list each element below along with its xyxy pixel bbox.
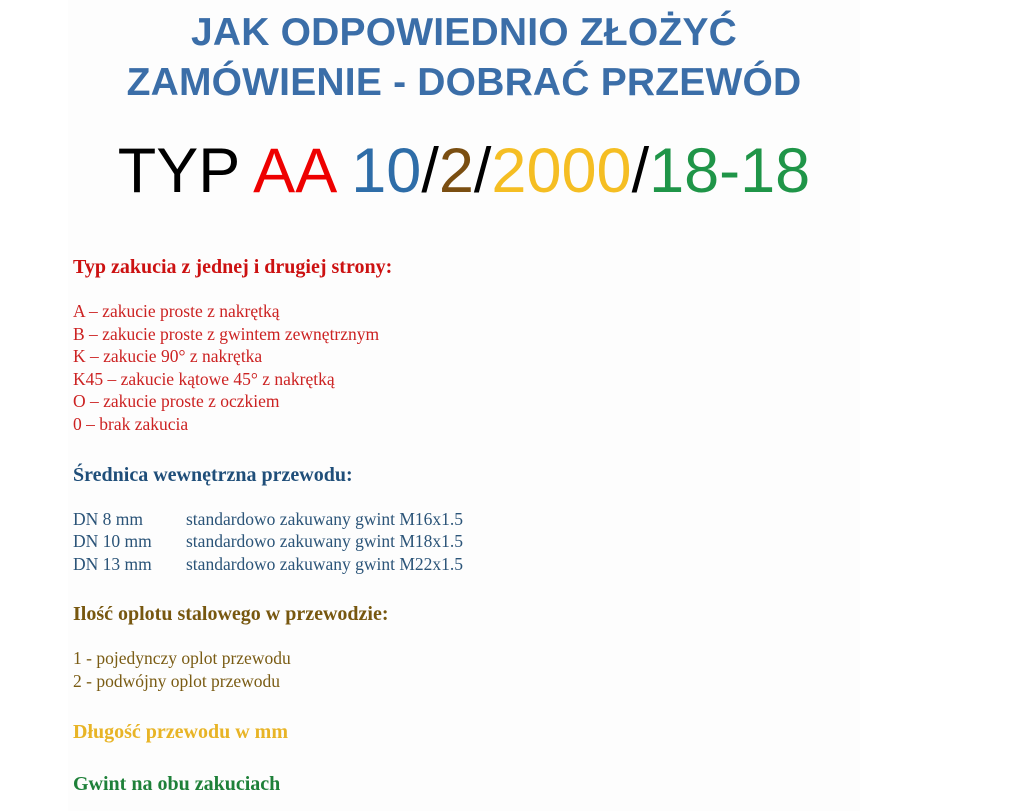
section-fitting-type-body: A – zakucie proste z nakrętką B – zakuci… [73, 300, 873, 436]
section-hose-length: Długość przewodu w mm [73, 719, 873, 771]
code-separator-3: / [632, 136, 650, 206]
spacer [73, 745, 873, 771]
code-hose-length: 2000 [491, 136, 631, 206]
code-separator-2: / [474, 136, 492, 206]
list-item: 0 – brak zakucia [73, 413, 873, 436]
section-steel-braid-body: 1 - pojedynczy oplot przewodu 2 - podwój… [73, 647, 873, 692]
list-item: A – zakucie proste z nakrętką [73, 300, 873, 323]
section-hose-length-heading: Długość przewodu w mm [73, 719, 873, 745]
page-title-line-1: JAK ODPOWIEDNIO ZŁOŻYĆ [68, 8, 860, 58]
spacer [73, 436, 873, 462]
code-braid-count: 2 [439, 136, 474, 206]
spacer [73, 627, 873, 647]
spacer [73, 488, 873, 508]
code-inner-diameter: 10 [351, 136, 421, 206]
dn-size: DN 13 mm [73, 553, 186, 576]
list-item: O – zakucie proste z oczkiem [73, 390, 873, 413]
section-inner-diameter-body: DN 8 mmstandardowo zakuwany gwint M16x1.… [73, 508, 873, 576]
spacer [73, 575, 873, 601]
table-row: DN 13 mmstandardowo zakuwany gwint M22x1… [73, 553, 873, 576]
list-item: K45 – zakucie kątowe 45° z nakrętką [73, 368, 873, 391]
section-thread-both-ends: Gwint na obu zakuciach [73, 771, 873, 797]
table-row: DN 10 mmstandardowo zakuwany gwint M18x1… [73, 530, 873, 553]
spacer [73, 693, 873, 719]
page-title: JAK ODPOWIEDNIO ZŁOŻYĆ ZAMÓWIENIE - DOBR… [68, 8, 860, 108]
dn-thread: standardowo zakuwany gwint M18x1.5 [186, 531, 463, 551]
list-item: 1 - pojedynczy oplot przewodu [73, 647, 873, 670]
code-space [334, 136, 352, 206]
table-row: DN 8 mmstandardowo zakuwany gwint M16x1.… [73, 508, 873, 531]
list-item: K – zakucie 90° z nakrętka [73, 345, 873, 368]
section-inner-diameter-heading: Średnica wewnętrzna przewodu: [73, 462, 873, 488]
section-fitting-type-heading: Typ zakucia z jednej i drugiej strony: [73, 254, 873, 280]
dn-size: DN 10 mm [73, 530, 186, 553]
slide-canvas: JAK ODPOWIEDNIO ZŁOŻYĆ ZAMÓWIENIE - DOBR… [0, 0, 1012, 811]
dn-size: DN 8 mm [73, 508, 186, 531]
dn-thread: standardowo zakuwany gwint M22x1.5 [186, 554, 463, 574]
product-code-example: TYP AA 10/2/2000/18-18 [68, 136, 860, 206]
list-item: B – zakucie proste z gwintem zewnętrznym [73, 323, 873, 346]
code-separator-1: / [421, 136, 439, 206]
page-title-line-2: ZAMÓWIENIE - DOBRAĆ PRZEWÓD [68, 58, 860, 108]
code-thread-size: 18-18 [649, 136, 810, 206]
code-typ-label: TYP [118, 136, 253, 206]
section-steel-braid-heading: Ilość oplotu stalowego w przewodzie: [73, 601, 873, 627]
section-steel-braid: Ilość oplotu stalowego w przewodzie: 1 -… [73, 601, 873, 718]
code-fitting-type: AA [253, 136, 334, 206]
section-fitting-type: Typ zakucia z jednej i drugiej strony: A… [73, 254, 873, 462]
dn-thread: standardowo zakuwany gwint M16x1.5 [186, 509, 463, 529]
section-thread-both-ends-heading: Gwint na obu zakuciach [73, 771, 873, 797]
list-item: 2 - podwójny oplot przewodu [73, 670, 873, 693]
legend-sections: Typ zakucia z jednej i drugiej strony: A… [73, 254, 873, 797]
section-inner-diameter: Średnica wewnętrzna przewodu: DN 8 mmsta… [73, 462, 873, 602]
spacer [73, 280, 873, 300]
